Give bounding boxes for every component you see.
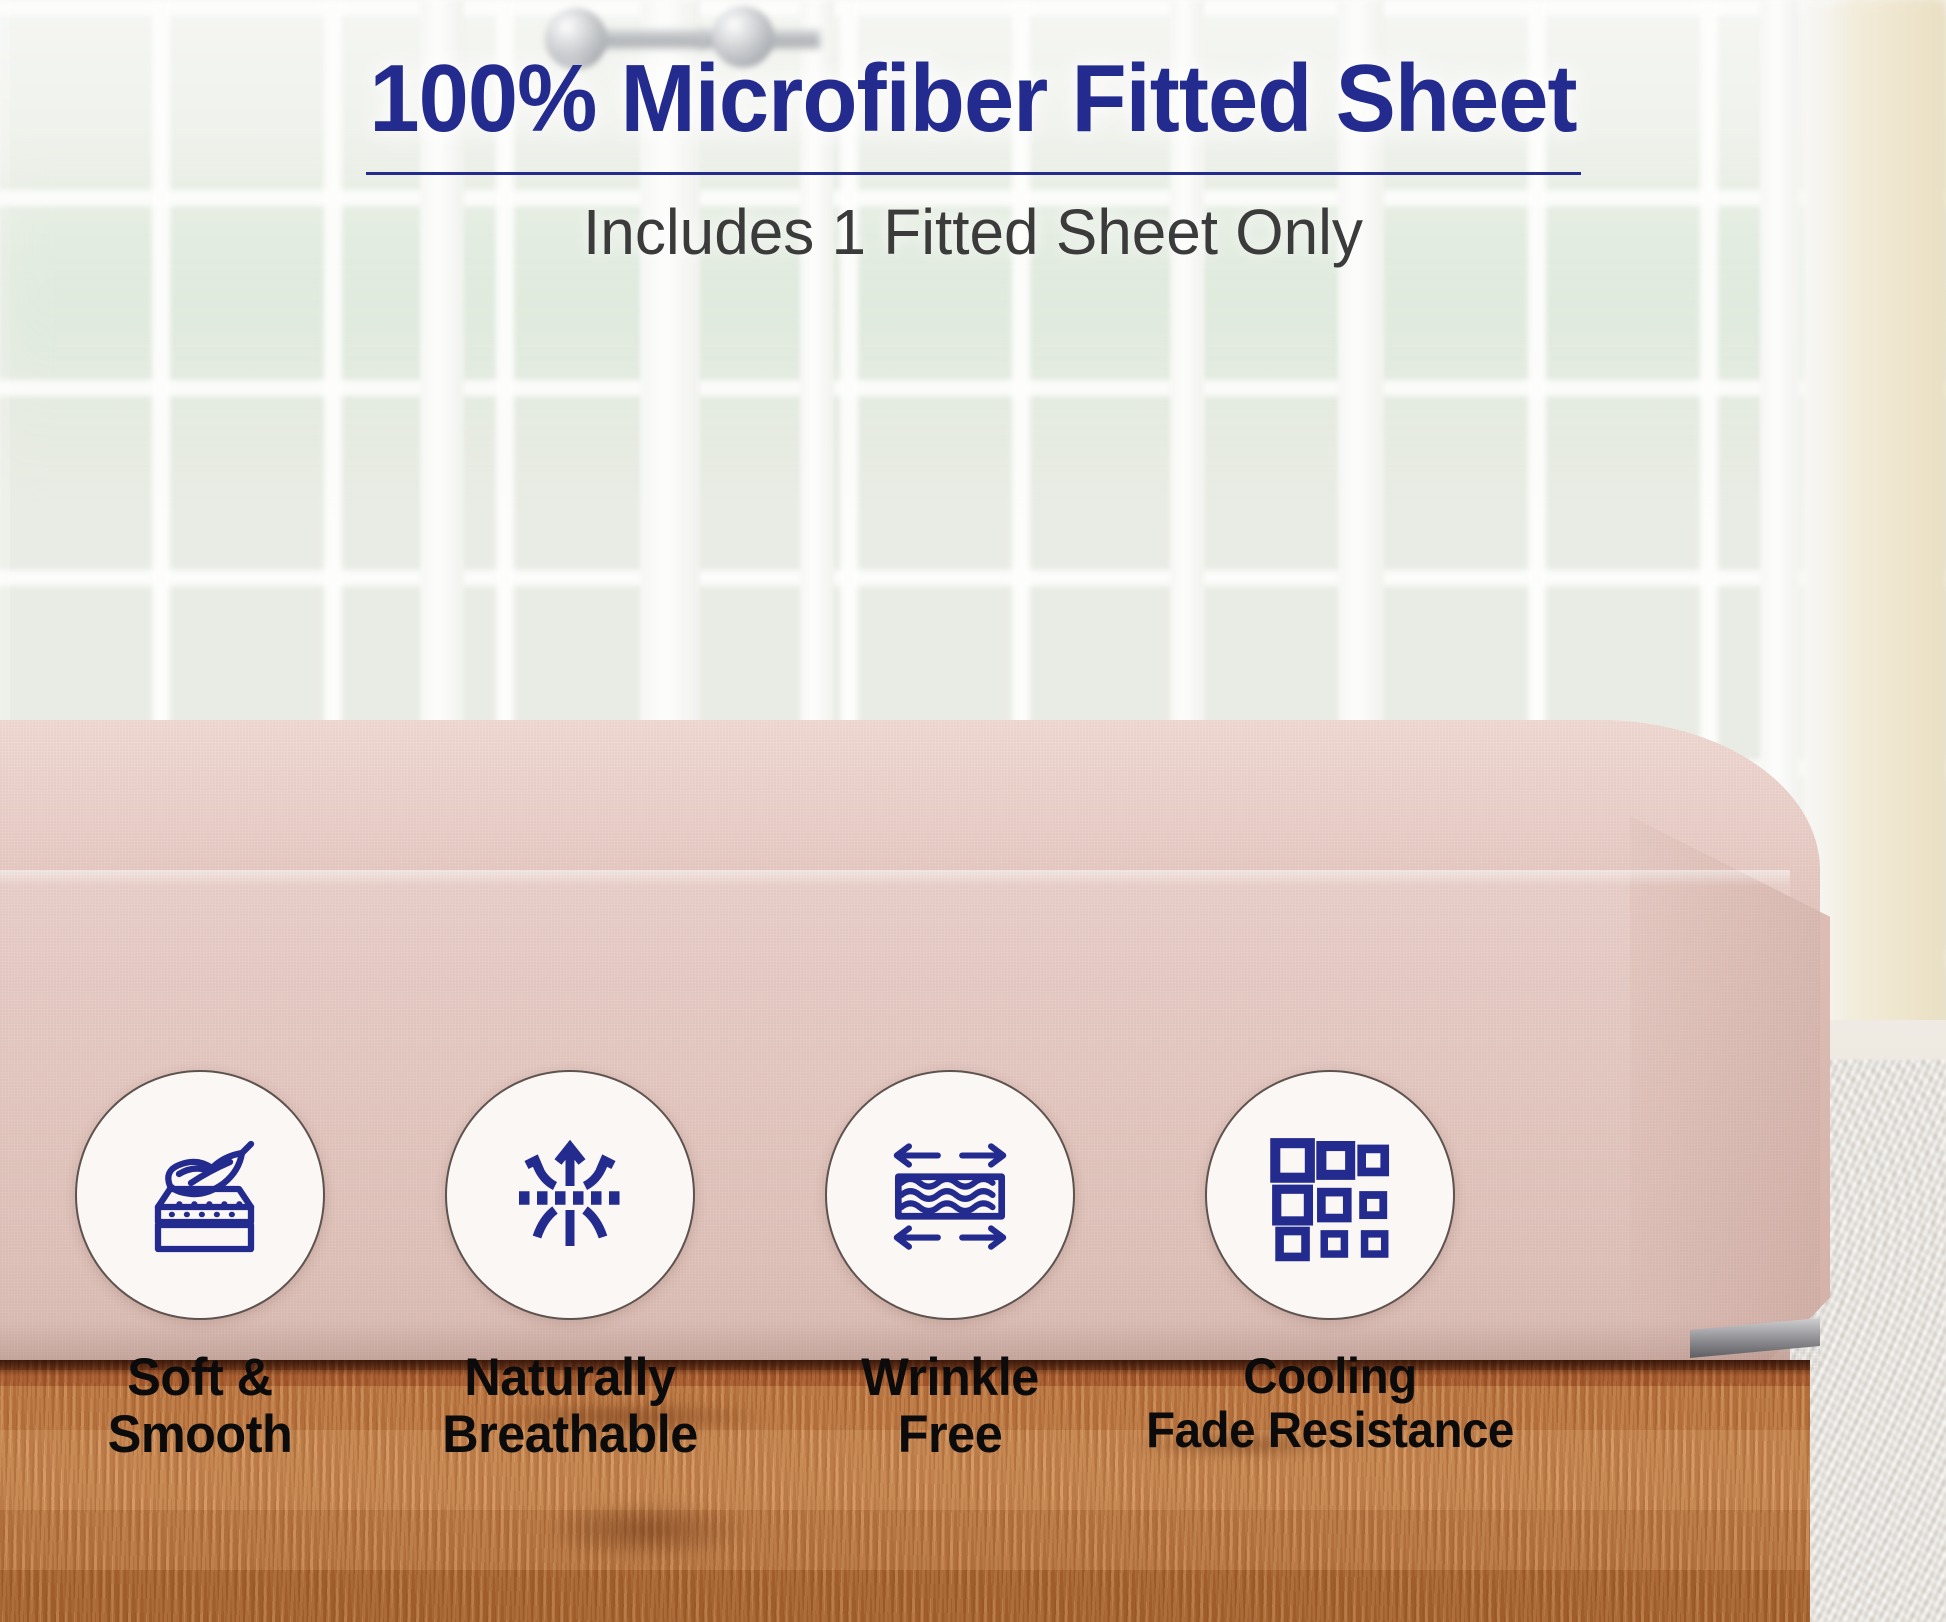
feature-caption: Naturally Breathable [413,1350,727,1463]
page-title: 100% Microfiber Fitted Sheet [58,0,1887,154]
feature-caption: Soft & Smooth [43,1350,357,1463]
fade-resistance-squares-grid-icon [1258,1123,1402,1267]
feature-icon-badge [75,1070,325,1320]
feature-item-naturally-breathable: Naturally Breathable [405,1070,735,1463]
feature-caption: Cooling Fade Resistance [1131,1350,1530,1457]
feature-icon-badge [825,1070,1075,1320]
feature-icon-badge [1205,1070,1455,1320]
feature-list: Soft & Smooth [0,1070,1810,1622]
breathable-airflow-arrows-icon [495,1120,645,1270]
header-block: 100% Microfiber Fitted Sheet Includes 1 … [0,0,1946,269]
feature-caption: Wrinkle Free [793,1350,1107,1463]
feature-item-cooling-fade-resistance: Cooling Fade Resistance [1120,1070,1540,1457]
feature-item-wrinkle-free: Wrinkle Free [785,1070,1115,1463]
feather-on-mattress-icon [125,1120,275,1270]
product-feature-banner: 100% Microfiber Fitted Sheet Includes 1 … [0,0,1946,1622]
wrinkle-free-stretch-icon [874,1119,1026,1271]
title-divider [366,172,1581,175]
feature-item-soft-smooth: Soft & Smooth [35,1070,365,1463]
page-subtitle: Includes 1 Fitted Sheet Only [29,195,1917,269]
feature-icon-badge [445,1070,695,1320]
